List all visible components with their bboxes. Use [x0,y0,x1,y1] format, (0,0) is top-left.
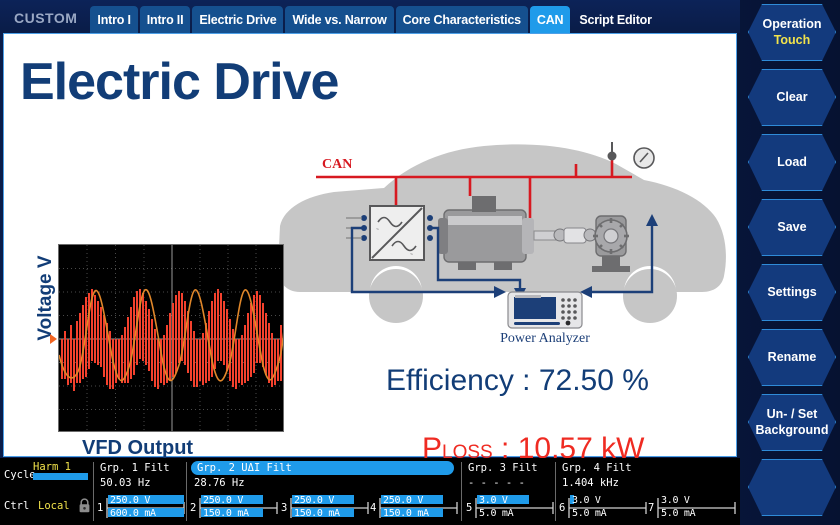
channel-current-value: 600.0 mA [110,508,156,519]
ctrl-value[interactable]: Local [38,500,70,512]
cycle-bar [33,473,88,480]
channel-2[interactable]: 2 250.0 V 150.0 mA [190,494,278,522]
oscilloscope-display[interactable] [58,244,284,432]
car-wheel-front [623,269,677,323]
trigger-marker-icon [50,334,57,344]
channel-voltage-value: 250.0 V [383,495,423,506]
sidebar-button-unset-background[interactable]: Un- / Set Background [748,394,836,451]
sidebar-button-save[interactable]: Save [748,199,836,256]
channel-number: 1 [97,502,103,514]
can-bus-label: CAN [322,157,352,172]
channel-5[interactable]: 5 3.0 V 5.0 mA [466,494,554,522]
tab-core-characteristics[interactable]: Core Characteristics [396,6,528,33]
sidebar-button-settings[interactable]: Settings [748,264,836,321]
group-value-3: - - - - - [468,477,525,489]
power-analyzer-label: Power Analyzer [500,331,590,346]
sidebar-button-clear[interactable]: Clear [748,69,836,126]
svg-text:~: ~ [376,227,379,233]
channel-7[interactable]: 7 3.0 V 5.0 mA [648,494,736,522]
tab-wide-vs-narrow[interactable]: Wide vs. Narrow [285,6,393,33]
power-analyzer [508,292,582,328]
channel-number: 2 [190,502,196,514]
bus-sensor-icon [608,142,617,161]
channel-current-value: 150.0 mA [203,508,249,519]
sidebar-label-clear: Clear [776,90,807,106]
sidebar-button-load[interactable]: Load [748,134,836,191]
tab-script-editor[interactable]: Script Editor [572,6,658,33]
group-value-2: 28.76 Hz [194,477,245,489]
sidebar-button-operation[interactable]: Operation Touch [748,4,836,61]
tab-electric-drive[interactable]: Electric Drive [192,6,283,33]
channel-current-value: 5.0 mA [479,508,513,519]
car-wheel-rear [369,269,423,323]
vehicle-powertrain-diagram: CAN ~ ~ [272,130,732,360]
sidebar-label-save: Save [777,220,806,236]
channel-number: 4 [370,502,376,514]
tab-intro-ii[interactable]: Intro II [140,6,191,33]
waveform-panel: Voltage V [22,209,282,454]
group-header-2[interactable]: Grp. 2 UΔI Filt [191,461,454,475]
channel-number: 5 [466,502,472,514]
ctrl-label: Ctrl [4,500,29,512]
group-header-4[interactable]: Grp. 4 Filt [562,462,632,474]
cycle-label: Cycle [4,469,36,481]
channel-voltage-value: 3.0 V [661,495,690,506]
channel-current-value: 150.0 mA [383,508,429,519]
channel-current-value: 5.0 mA [572,508,606,519]
sidebar-label-load: Load [777,155,807,171]
svg-text:~: ~ [410,252,413,258]
status-bar: Cycle Harm 1 Ctrl Local Grp. 1 Filt 50.0… [0,458,740,525]
page-title: Electric Drive [20,56,338,108]
channel-voltage-value: 3.0 V [479,495,508,506]
sidebar-button-rename[interactable]: Rename [748,329,836,386]
sidebar-label-operation: Operation [762,17,821,33]
status-divider [555,462,556,521]
channel-voltage-value: 250.0 V [203,495,243,506]
group-header-3[interactable]: Grp. 3 Filt [468,462,538,474]
instrument-screen: CUSTOM Intro I Intro II Electric Drive W… [0,0,840,525]
sidebar-sublabel-touch: Touch [774,33,811,49]
channel-number: 3 [281,502,287,514]
sidebar-button-empty[interactable] [748,459,836,516]
efficiency-readout: Efficiency : 72.50 % [386,364,649,398]
channel-1[interactable]: 1 250.0 V 600.0 mA [97,494,185,522]
sidebar: Operation Touch Clear Load Save Settings… [740,0,840,525]
status-divider [93,462,94,521]
channel-6[interactable]: 6 3.0 V 5.0 mA [559,494,647,522]
tab-can[interactable]: CAN [530,6,570,33]
scope-caption: VFD Output [82,437,193,460]
bus-gauge-icon [634,148,654,168]
content-panel: Electric Drive CAN [3,33,737,457]
cycle-value[interactable]: Harm 1 [33,461,71,473]
sidebar-label-unset: Un- / Set [767,407,818,423]
channel-current-value: 5.0 mA [661,508,695,519]
tab-intro-i[interactable]: Intro I [90,6,137,33]
channel-3[interactable]: 3 250.0 V 150.0 mA [281,494,369,522]
channel-voltage-value: 250.0 V [110,495,150,506]
status-divider [186,462,187,521]
sidebar-label-background: Background [756,423,829,439]
status-divider [461,462,462,521]
channel-number: 6 [559,502,565,514]
inverter: ~ ~ [370,206,424,260]
channel-voltage-value: 250.0 V [294,495,334,506]
channel-4[interactable]: 4 250.0 V 150.0 mA [370,494,458,522]
group-value-1: 50.03 Hz [100,477,151,489]
tab-bar: CUSTOM Intro I Intro II Electric Drive W… [0,0,740,33]
channel-voltage-value: 3.0 V [572,495,601,506]
channel-current-value: 150.0 mA [294,508,340,519]
padlock-icon [78,498,91,513]
group-header-1[interactable]: Grp. 1 Filt [100,462,170,474]
channel-number: 7 [648,502,654,514]
sidebar-label-rename: Rename [768,350,817,366]
group-value-4: 1.404 kHz [562,477,619,489]
sidebar-label-settings: Settings [767,285,816,301]
custom-label: CUSTOM [0,10,90,33]
